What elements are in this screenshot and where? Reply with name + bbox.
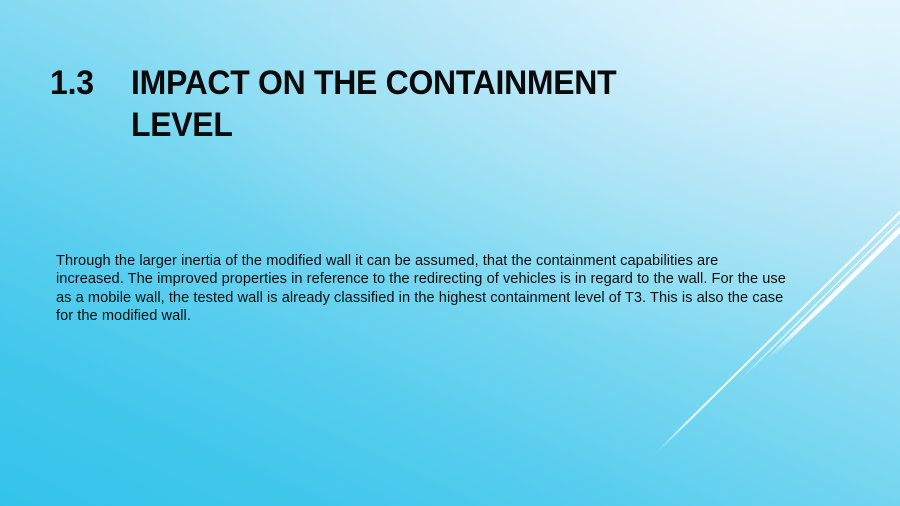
title-heading-text: IMPACT ON THE CONTAINMENT LEVEL: [131, 62, 657, 146]
slide-body: Through the larger inertia of the modifi…: [56, 252, 786, 325]
streak-medium: [768, 228, 900, 358]
body-paragraph: Through the larger inertia of the modifi…: [56, 252, 786, 325]
title-row: 1.3 IMPACT ON THE CONTAINMENT LEVEL: [50, 62, 770, 146]
title-number: 1.3: [50, 62, 126, 104]
streak-short-lower: [803, 232, 900, 327]
presentation-slide: 1.3 IMPACT ON THE CONTAINMENT LEVEL Thro…: [0, 0, 900, 506]
streak-short-upper: [773, 230, 900, 356]
streak-long: [657, 212, 900, 452]
slide-title: 1.3 IMPACT ON THE CONTAINMENT LEVEL: [50, 62, 770, 146]
